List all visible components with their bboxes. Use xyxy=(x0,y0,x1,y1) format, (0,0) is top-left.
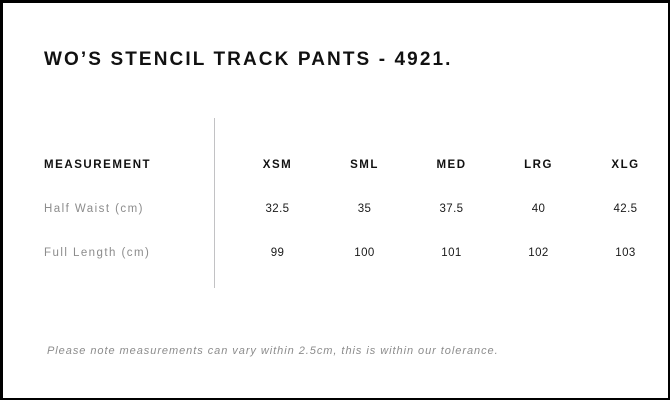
column-header-xsm: XSM xyxy=(234,159,321,171)
column-header-xlg: XLG xyxy=(582,159,669,171)
table-row: Half Waist (cm) 32.5 35 37.5 40 42.5 xyxy=(44,187,650,231)
cell-full-length-xlg: 103 xyxy=(582,247,669,259)
page-title: WO’S STENCIL TRACK PANTS - 4921. xyxy=(44,49,453,71)
cell-full-length-xsm: 99 xyxy=(234,247,321,259)
row-label-half-waist: Half Waist (cm) xyxy=(44,203,234,215)
cell-full-length-sml: 100 xyxy=(321,247,408,259)
cell-full-length-lrg: 102 xyxy=(495,247,582,259)
table-header-row: MEASUREMENT XSM SML MED LRG XLG xyxy=(44,143,650,187)
size-chart-content: WO’S STENCIL TRACK PANTS - 4921. MEASURE… xyxy=(44,3,650,398)
size-chart-card: WO’S STENCIL TRACK PANTS - 4921. MEASURE… xyxy=(0,0,670,400)
measurement-table: MEASUREMENT XSM SML MED LRG XLG Half Wai… xyxy=(44,143,650,275)
column-header-lrg: LRG xyxy=(495,159,582,171)
column-header-sml: SML xyxy=(321,159,408,171)
cell-half-waist-xsm: 32.5 xyxy=(234,203,321,215)
column-header-med: MED xyxy=(408,159,495,171)
cell-half-waist-xlg: 42.5 xyxy=(582,203,669,215)
column-header-measurement: MEASUREMENT xyxy=(44,159,234,171)
cell-half-waist-med: 37.5 xyxy=(408,203,495,215)
table-row: Full Length (cm) 99 100 101 102 103 xyxy=(44,231,650,275)
tolerance-note: Please note measurements can vary within… xyxy=(47,345,499,357)
row-label-full-length: Full Length (cm) xyxy=(44,247,234,259)
cell-half-waist-sml: 35 xyxy=(321,203,408,215)
cell-half-waist-lrg: 40 xyxy=(495,203,582,215)
cell-full-length-med: 101 xyxy=(408,247,495,259)
